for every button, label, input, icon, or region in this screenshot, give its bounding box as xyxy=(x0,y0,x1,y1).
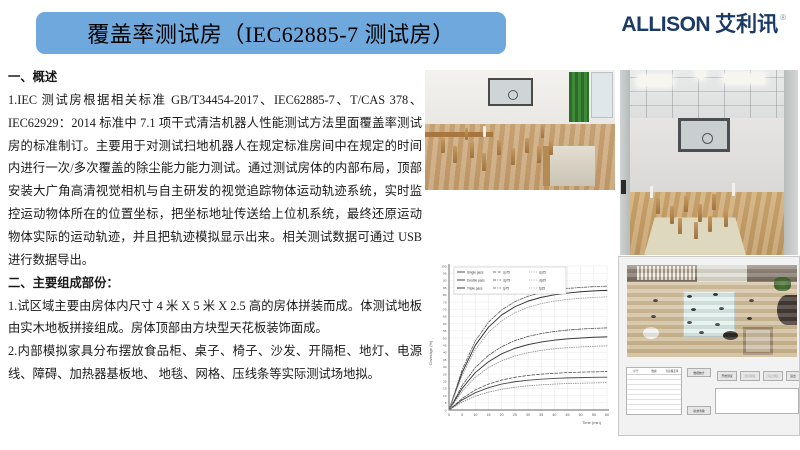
svg-text:sp25: sp25 xyxy=(539,270,546,274)
obstacle-peg xyxy=(656,198,660,214)
svg-text:85: 85 xyxy=(443,286,447,290)
obstacle-peg xyxy=(537,146,541,163)
camera-view-blinds xyxy=(637,266,695,280)
svg-text:55: 55 xyxy=(592,413,596,417)
ceiling-spotlight xyxy=(696,70,705,79)
pause-test-button[interactable]: 暂停测试 xyxy=(740,371,760,381)
obstacle-peg xyxy=(684,196,688,212)
tracking-marker xyxy=(699,331,704,334)
svg-text:Triple pass: Triple pass xyxy=(467,286,483,290)
svg-text:25: 25 xyxy=(443,372,447,376)
statistics-button[interactable]: 数据统计 xyxy=(687,368,711,377)
obstacle-peg xyxy=(465,128,468,140)
results-col-index: 序号 xyxy=(627,368,645,374)
obstacle-peg xyxy=(525,138,529,153)
robot-vacuum-top-view xyxy=(723,331,738,340)
tracking-marker xyxy=(653,299,658,302)
svg-text:20: 20 xyxy=(443,380,447,384)
svg-text:15: 15 xyxy=(443,387,447,391)
exit-button[interactable]: 退出 xyxy=(786,371,800,381)
tracking-marker xyxy=(715,323,720,326)
obstacle-peg xyxy=(497,140,501,155)
room-b-door-jamb-right xyxy=(784,70,798,255)
page-title: 覆盖率测试房（IEC62885-7 测试房） xyxy=(87,17,454,49)
obstacle-peg xyxy=(698,204,702,222)
svg-text:40: 40 xyxy=(552,413,556,417)
svg-text:35: 35 xyxy=(539,413,543,417)
camera-view-plant xyxy=(774,277,791,291)
room-b-door-jamb-left xyxy=(620,70,630,255)
svg-text:75: 75 xyxy=(443,300,447,304)
section-overview-paragraph: 1.IEC 测试房根据相关标准 GB/T34454-2017、IEC62885-… xyxy=(8,89,422,272)
camera-view-dark-corner xyxy=(777,295,797,325)
camera-view-floor-lamp xyxy=(643,327,659,339)
obstacle-peg xyxy=(549,140,553,155)
tracking-software-screenshot: 序号 数据 当前覆盖率 数据统计 轨迹清除 开始测试 暂停测试 停止测试 退出 xyxy=(618,256,800,436)
svg-text:10: 10 xyxy=(473,413,477,417)
svg-text:0: 0 xyxy=(445,408,447,412)
photo-test-room-interior xyxy=(425,70,615,190)
camera-view-ceiling-strip xyxy=(627,265,797,282)
svg-text:20: 20 xyxy=(500,413,504,417)
results-table-header-row: 序号 数据 当前覆盖率 xyxy=(627,368,681,375)
svg-text:60: 60 xyxy=(443,322,447,326)
chart-x-axis-label: Time (min) xyxy=(582,420,602,425)
obstacle-peg xyxy=(724,210,728,227)
clear-trajectory-button[interactable]: 轨迹清除 xyxy=(687,406,711,415)
svg-text:0: 0 xyxy=(448,413,450,417)
svg-text:Single pass: Single pass xyxy=(467,270,484,274)
obstacle-peg xyxy=(441,138,445,153)
svg-text:15: 15 xyxy=(487,413,491,417)
brand-logo: ALLISON 艾利讯 ® xyxy=(621,14,786,35)
svg-text:60: 60 xyxy=(605,413,609,417)
results-table[interactable]: 序号 数据 当前覆盖率 xyxy=(626,367,682,415)
tracking-marker xyxy=(691,308,696,311)
svg-text:30: 30 xyxy=(526,413,530,417)
tracking-marker xyxy=(719,307,724,310)
svg-text:70: 70 xyxy=(443,308,447,312)
obstacle-peg xyxy=(670,206,674,224)
obstacle-peg xyxy=(482,153,486,171)
page-header: 覆盖率测试房（IEC62885-7 测试房） ALLISON 艾利讯 ® xyxy=(0,0,800,68)
svg-text:dp75: dp75 xyxy=(503,278,510,282)
control-panel: 序号 数据 当前覆盖率 数据统计 轨迹清除 开始测试 暂停测试 停止测试 退出 xyxy=(619,362,799,436)
obstacle-peg xyxy=(694,222,698,239)
room-a-wall-camera-frame xyxy=(488,78,533,106)
camera-view-chair xyxy=(743,327,773,355)
svg-text:95: 95 xyxy=(443,272,447,276)
tracking-marker xyxy=(651,315,656,318)
svg-text:sp75: sp75 xyxy=(503,270,510,274)
svg-text:35: 35 xyxy=(443,358,447,362)
svg-text:10: 10 xyxy=(443,394,447,398)
tracking-marker xyxy=(749,299,754,302)
svg-text:5: 5 xyxy=(445,401,447,405)
svg-text:90: 90 xyxy=(443,279,447,283)
registered-trademark-icon: ® xyxy=(780,14,786,22)
svg-text:50: 50 xyxy=(579,413,583,417)
section-components-heading: 二、主要组成部份： xyxy=(8,272,422,295)
obstacle-peg xyxy=(483,126,486,137)
room-a-green-curtain xyxy=(569,72,589,122)
ceiling-light-panel xyxy=(638,76,672,86)
camera-view-test-mat xyxy=(683,291,735,337)
results-col-value: 数据 xyxy=(645,368,663,374)
obstacle-peg xyxy=(708,216,712,232)
camera-view-duct xyxy=(697,265,747,282)
door-handle-icon xyxy=(621,180,626,194)
results-col-coverage: 当前覆盖率 xyxy=(663,368,681,374)
svg-text:5: 5 xyxy=(461,413,463,417)
obstacle-peg xyxy=(650,186,653,198)
stop-test-button[interactable]: 停止测试 xyxy=(763,371,783,381)
overhead-camera-view xyxy=(627,265,797,357)
svg-text:45: 45 xyxy=(443,344,447,348)
room-a-window xyxy=(591,72,613,118)
obstacle-peg xyxy=(678,218,682,234)
title-banner: 覆盖率测试房（IEC62885-7 测试房） xyxy=(36,12,506,54)
description-text-column: 一、概述 1.IEC 测试房根据相关标准 GB/T34454-2017、IEC6… xyxy=(8,66,422,444)
coverage-chart: 0510152025303540455055600510152025303540… xyxy=(425,258,613,434)
section-components-item-1: 1.试区域主要由房体内尺寸 4 米 X 5 米 X 2.5 高的房体拼装而成。体… xyxy=(8,295,422,341)
svg-text:Double pass: Double pass xyxy=(467,278,485,282)
tracking-marker xyxy=(747,317,752,320)
obstacle-peg xyxy=(732,183,735,196)
svg-text:tp25: tp25 xyxy=(539,286,545,290)
svg-text:55: 55 xyxy=(443,329,447,333)
svg-text:25: 25 xyxy=(513,413,517,417)
room-b-wall-camera-frame xyxy=(678,118,730,152)
svg-text:30: 30 xyxy=(443,365,447,369)
section-components-item-2: 2.内部模拟家具分布摆放食品柜、桌子、椅子、沙发、开隔柜、地灯、电源线、障碍、加… xyxy=(8,340,422,386)
svg-text:tp75: tp75 xyxy=(503,286,509,290)
chart-legend: Single passsp75sp25Double passdp75dp25Tr… xyxy=(454,267,566,294)
tracking-marker xyxy=(687,295,692,298)
logo-wordmark: ALLISON xyxy=(621,14,710,35)
log-textarea[interactable] xyxy=(715,388,799,414)
svg-text:dp25: dp25 xyxy=(539,278,546,282)
svg-text:80: 80 xyxy=(443,293,447,297)
tracking-marker xyxy=(713,293,718,296)
coverage-chart-svg: 0510152025303540455055600510152025303540… xyxy=(425,258,613,434)
obstacle-peg xyxy=(470,142,474,158)
tracking-marker xyxy=(687,321,692,324)
chart-y-axis-label: Coverage (%) xyxy=(428,340,433,365)
obstacle-peg xyxy=(712,194,716,210)
logo-chinese-name: 艾利讯 xyxy=(715,14,778,35)
svg-text:100: 100 xyxy=(441,264,446,268)
svg-text:65: 65 xyxy=(443,315,447,319)
start-test-button[interactable]: 开始测试 xyxy=(717,371,737,381)
obstacle-peg xyxy=(453,146,457,163)
section-overview-heading: 一、概述 xyxy=(8,66,422,89)
table-row[interactable] xyxy=(627,405,681,410)
photo-test-room-doorway-view xyxy=(620,70,798,255)
svg-text:40: 40 xyxy=(443,351,447,355)
svg-text:45: 45 xyxy=(566,413,570,417)
ceiling-light-panel xyxy=(724,74,764,83)
obstacle-peg xyxy=(541,125,544,138)
svg-text:50: 50 xyxy=(443,336,447,340)
obstacle-peg xyxy=(511,148,515,165)
